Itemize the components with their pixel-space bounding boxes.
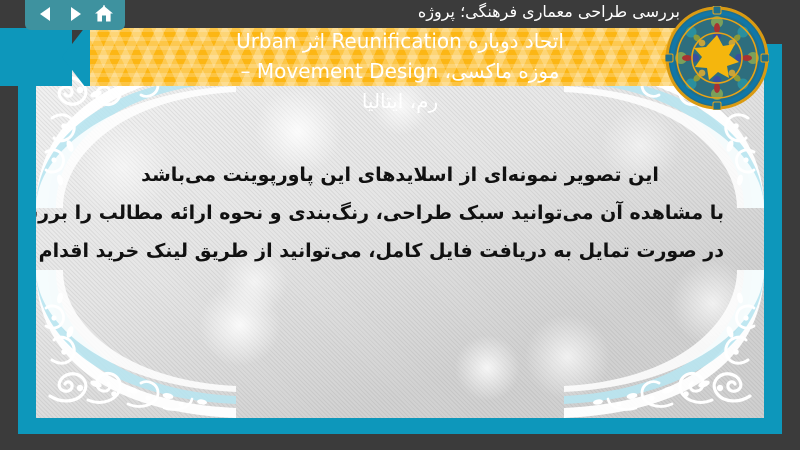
banner-title-line-1: اتحاد دوباره Reunification اثر Urban — [96, 26, 704, 56]
back-triangle-icon — [37, 5, 55, 23]
home-icon — [94, 5, 114, 23]
banner-title-text: اتحاد دوباره Reunification اثر Urban موز… — [90, 26, 710, 88]
banner-teal-strip — [0, 28, 72, 86]
body-line-3: در صورت تمایل به دریافت فایل کامل، می‌تو… — [76, 232, 724, 270]
banner-title-line-3: رم، ایتالیا — [90, 88, 710, 114]
arabesque-corner-bottom-left-icon — [36, 270, 236, 418]
body-line-1: این تصویر نمونه‌ای از اسلایدهای این پاور… — [76, 156, 724, 194]
forward-button[interactable] — [62, 3, 88, 25]
body-line-2: با مشاهده آن می‌توانید سبک طراحی، رنگ‌بن… — [76, 194, 724, 232]
banner-title-line-2: موزه ماکسی، Movement Design – — [96, 56, 704, 86]
navigation-bar — [25, 0, 125, 30]
back-button[interactable] — [33, 3, 59, 25]
home-button[interactable] — [91, 3, 117, 25]
slide-stage: بررسی طراحی معماری فرهنگی؛ پروژه اتحاد د… — [0, 0, 800, 450]
forward-triangle-icon — [66, 5, 84, 23]
slide-body-text: این تصویر نمونه‌ای از اسلایدهای این پاور… — [76, 156, 724, 270]
arabesque-corner-bottom-right-icon — [564, 270, 764, 418]
